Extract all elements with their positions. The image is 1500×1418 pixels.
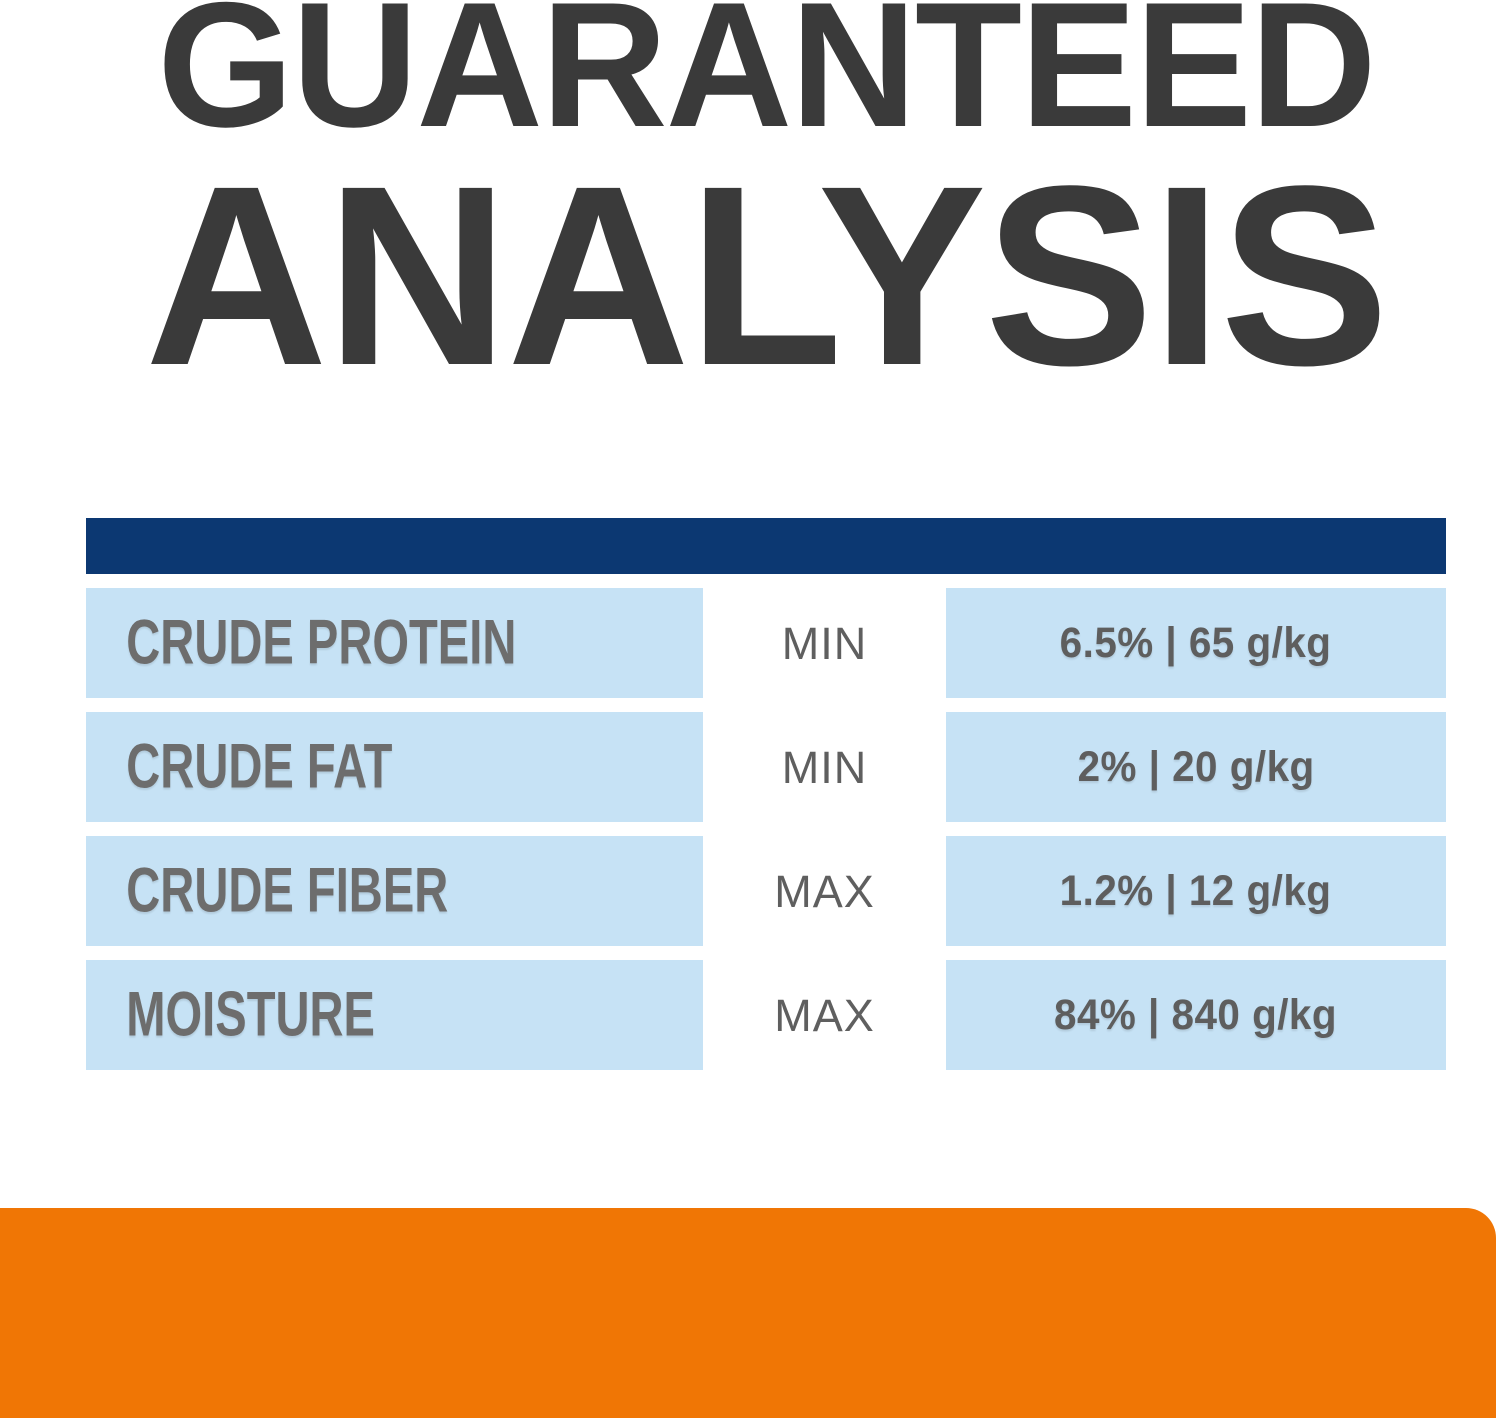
limit-label: MIN [782,745,868,790]
value-label: 6.5% | 65 g/kg [1060,622,1332,665]
nutrient-label: CRUDE FIBER [86,859,448,922]
value-label: 1.2% | 12 g/kg [1060,870,1332,913]
nutrient-label: CRUDE FAT [86,735,392,798]
value-label: 84% | 840 g/kg [1054,994,1337,1037]
limit-cell: MIN [703,588,946,698]
value-cell: 1.2% | 12 g/kg [946,836,1446,946]
limit-cell: MIN [703,712,946,822]
guaranteed-analysis-table: CRUDE PROTEIN MIN 6.5% | 65 g/kg CRUDE F… [86,518,1446,1070]
value-cell: 6.5% | 65 g/kg [946,588,1446,698]
limit-label: MIN [782,621,868,666]
nutrient-label-cell: CRUDE PROTEIN [86,588,703,698]
value-cell: 84% | 840 g/kg [946,960,1446,1070]
limit-label: MAX [774,993,875,1038]
nutrient-label-cell: CRUDE FAT [86,712,703,822]
table-row: CRUDE PROTEIN MIN 6.5% | 65 g/kg [86,588,1446,698]
page-title-line-1: GUARANTEED [96,0,1436,154]
limit-label: MAX [774,869,875,914]
table-row: CRUDE FAT MIN 2% | 20 g/kg [86,712,1446,822]
value-cell: 2% | 20 g/kg [946,712,1446,822]
table-header-bar [86,518,1446,574]
bottom-orange-band [0,1208,1496,1418]
nutrient-label: MOISTURE [86,983,375,1046]
nutrient-label-cell: CRUDE FIBER [86,836,703,946]
limit-cell: MAX [703,960,946,1070]
guaranteed-analysis-panel: GUARANTEED ANALYSIS CRUDE PROTEIN MIN 6.… [0,0,1500,1418]
limit-cell: MAX [703,836,946,946]
table-row: MOISTURE MAX 84% | 840 g/kg [86,960,1446,1070]
nutrient-label-cell: MOISTURE [86,960,703,1070]
table-row: CRUDE FIBER MAX 1.2% | 12 g/kg [86,836,1446,946]
value-label: 2% | 20 g/kg [1077,746,1314,789]
page-title-line-2: ANALYSIS [93,148,1439,404]
nutrient-label: CRUDE PROTEIN [86,611,516,674]
page-title: GUARANTEED ANALYSIS [0,0,1500,400]
